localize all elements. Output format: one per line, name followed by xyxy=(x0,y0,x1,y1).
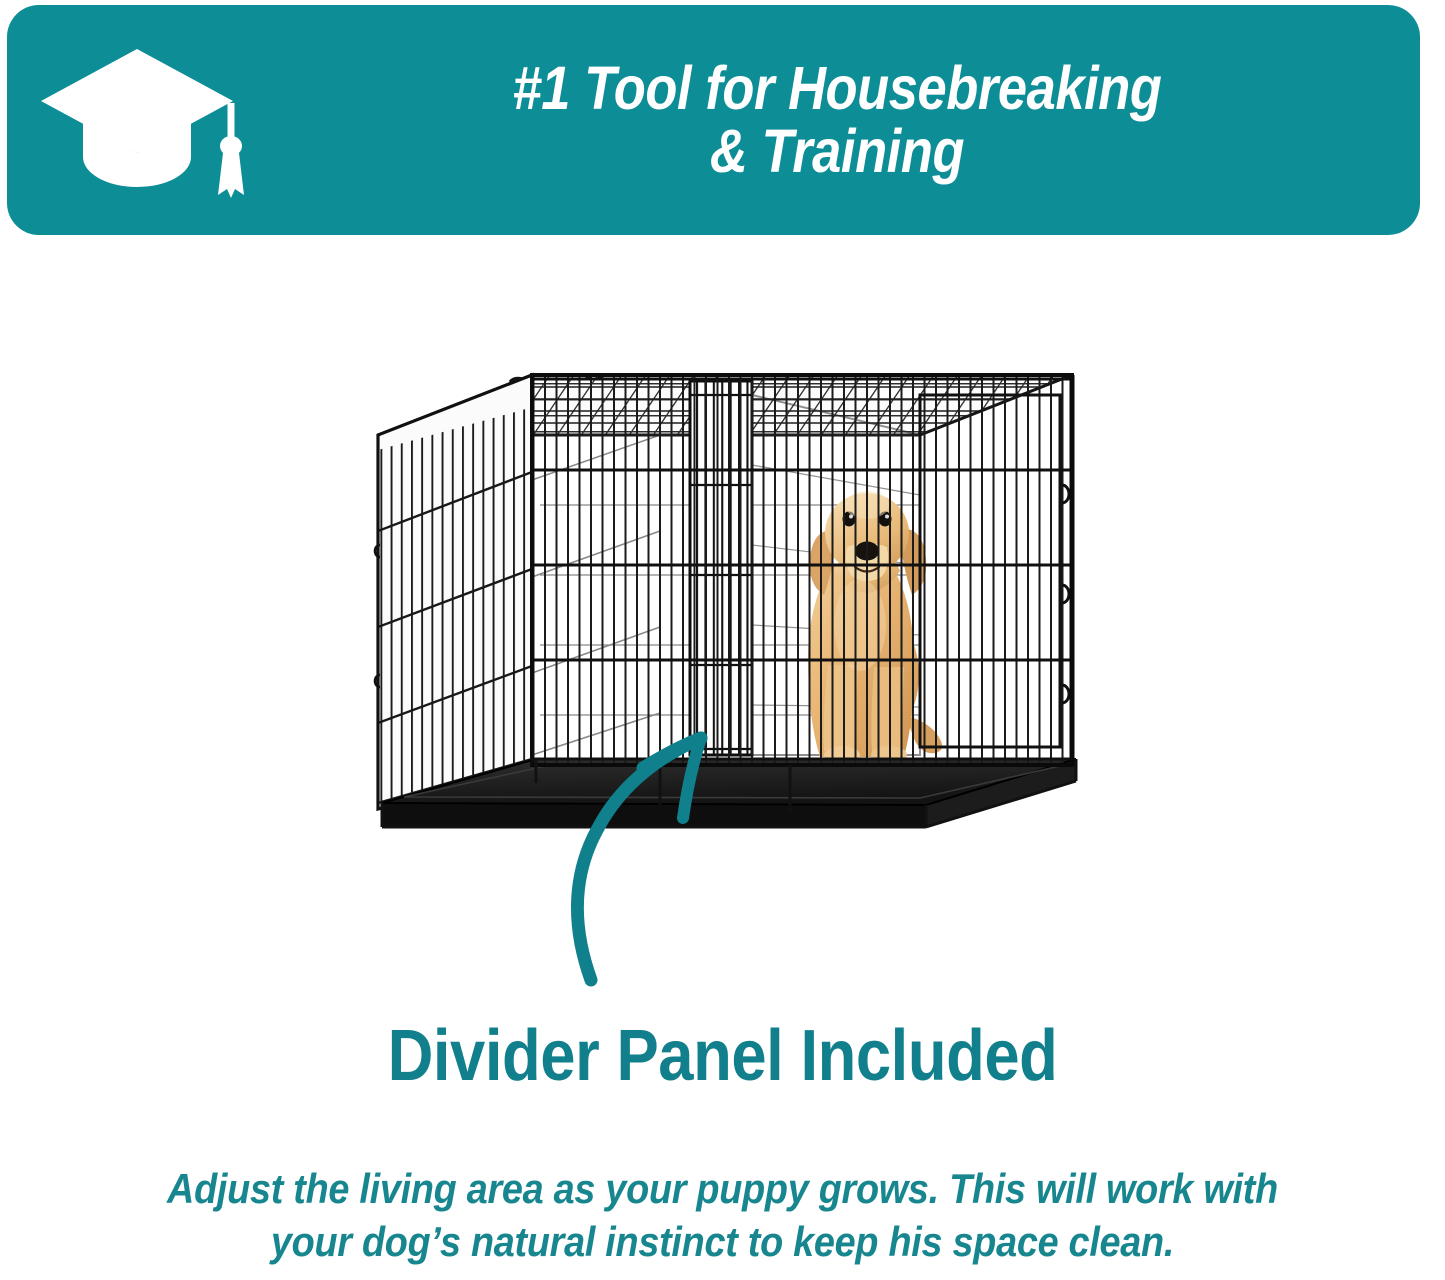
page-subtext-line-1: Adjust the living area as your puppy gro… xyxy=(126,1163,1319,1216)
infographic-page: #1 Tool for Housebreaking & Training xyxy=(0,0,1445,1280)
banner-headline-line-2: & Training xyxy=(710,120,964,183)
page-subtext-line-2: your dog’s natural instinct to keep his … xyxy=(126,1216,1319,1269)
dog-crate-photo xyxy=(360,335,1100,895)
page-subtext: Adjust the living area as your puppy gro… xyxy=(126,1163,1319,1268)
product-image-area xyxy=(0,250,1445,1010)
header-banner: #1 Tool for Housebreaking & Training xyxy=(7,5,1420,235)
crate-front-door xyxy=(532,375,1072,765)
banner-headline-line-1: #1 Tool for Housebreaking xyxy=(512,57,1161,120)
page-headline: Divider Panel Included xyxy=(87,1020,1359,1092)
banner-headline: #1 Tool for Housebreaking & Training xyxy=(355,19,1318,221)
graduation-cap-icon xyxy=(37,43,277,203)
